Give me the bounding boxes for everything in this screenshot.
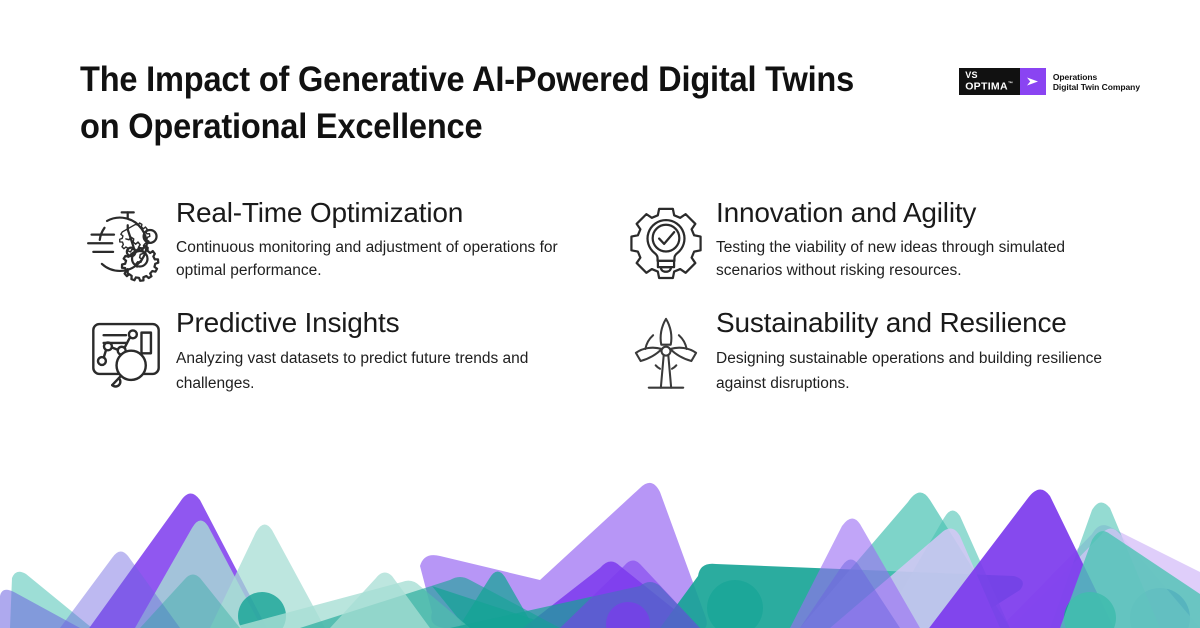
feature-title: Predictive Insights — [176, 306, 576, 340]
feature-title: Sustainability and Resilience — [716, 306, 1116, 340]
feature-text: Real-Time Optimization Continuous monito… — [172, 196, 576, 282]
feature-description: Continuous monitoring and adjustment of … — [176, 236, 576, 282]
logo-tagline-line-1: Operations — [1053, 72, 1140, 82]
wind-turbine-icon — [620, 306, 712, 398]
logo-wordmark-line-2: OPTIMA™ — [965, 80, 1013, 92]
feature-text: Sustainability and Resilience Designing … — [712, 306, 1116, 396]
feature-item-real-time-optimization: Real-Time Optimization Continuous monito… — [80, 196, 600, 288]
logo-tagline: Operations Digital Twin Company — [1046, 68, 1140, 95]
lightbulb-check-gear-icon — [620, 196, 712, 288]
brand-logo: VS OPTIMA™ Operations Digital Twin Compa… — [959, 68, 1140, 95]
feature-item-innovation-and-agility: Innovation and Agility Testing the viabi… — [620, 196, 1140, 288]
stopwatch-gears-icon — [80, 196, 172, 288]
feature-item-predictive-insights: Predictive Insights Analyzing vast datas… — [80, 306, 600, 398]
feature-title: Innovation and Agility — [716, 196, 1116, 230]
feature-grid: Real-Time Optimization Continuous monito… — [80, 196, 1140, 398]
feature-description: Analyzing vast datasets to predict futur… — [176, 346, 576, 396]
feature-item-sustainability-and-resilience: Sustainability and Resilience Designing … — [620, 306, 1140, 398]
feature-text: Innovation and Agility Testing the viabi… — [712, 196, 1116, 282]
page-title: The Impact of Generative AI-Powered Digi… — [80, 56, 854, 150]
feature-title: Real-Time Optimization — [176, 196, 576, 230]
feature-description: Designing sustainable operations and bui… — [716, 346, 1116, 396]
feature-text: Predictive Insights Analyzing vast datas… — [172, 306, 576, 396]
logo-wordmark-line-1: VS — [965, 71, 1013, 81]
analytics-magnifier-icon — [80, 306, 172, 398]
page-title-line-1: The Impact of Generative AI-Powered Digi… — [80, 56, 854, 103]
play-triangle-icon — [1020, 68, 1046, 95]
trademark-symbol: ™ — [1008, 81, 1013, 87]
feature-description: Testing the viability of new ideas throu… — [716, 236, 1116, 282]
logo-tagline-line-2: Digital Twin Company — [1053, 82, 1140, 92]
abstract-triangle-band — [0, 468, 1200, 628]
slide-canvas: The Impact of Generative AI-Powered Digi… — [0, 0, 1200, 628]
page-title-line-2: on Operational Excellence — [80, 103, 854, 150]
header: The Impact of Generative AI-Powered Digi… — [80, 56, 1140, 150]
logo-wordmark: VS OPTIMA™ — [959, 68, 1020, 95]
